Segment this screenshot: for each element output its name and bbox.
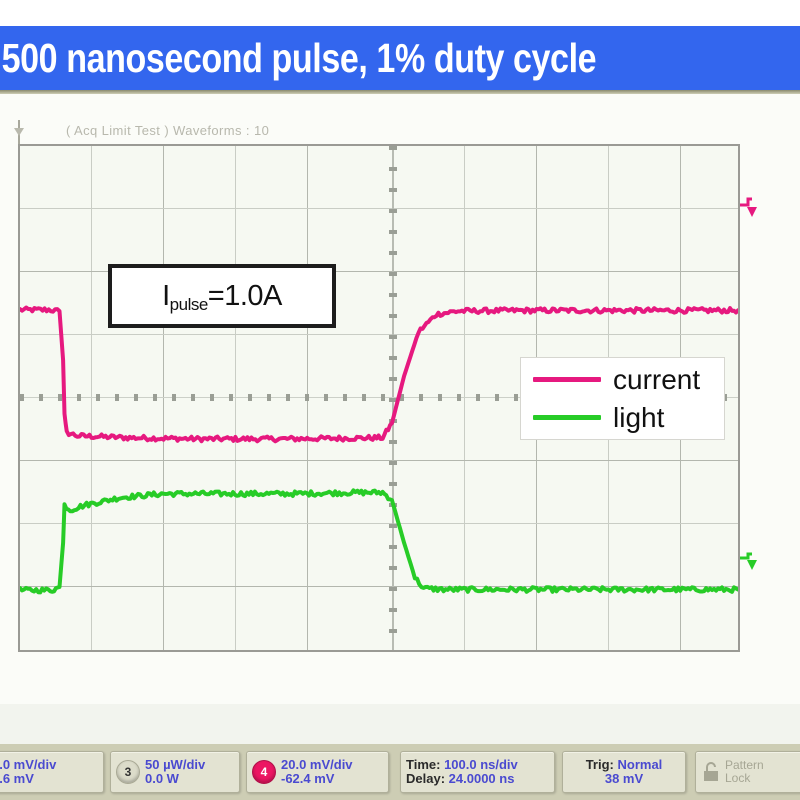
ch3-ground-marker-icon[interactable] <box>737 552 759 578</box>
timebase-key: Time: <box>406 757 440 772</box>
ch4-offset: -62.4 mV <box>281 772 353 786</box>
status-bar: 0.0 mV/div 1.6 mV 3 50 µW/div 0.0 W 4 20… <box>0 744 800 800</box>
ch4-ground-marker-icon[interactable] <box>737 196 759 222</box>
pulse-current-annotation: Ipulse=1.0A <box>108 264 336 328</box>
oscilloscope-screenshot: 500 nanosecond pulse, 1% duty cycle ( Ac… <box>0 0 800 800</box>
legend-item-light: light <box>533 402 724 434</box>
pattern-lock-line2: Lock <box>725 772 764 785</box>
ch3-offset: 0.0 W <box>145 772 205 786</box>
ch4-scale: 20.0 mV/div <box>281 758 353 772</box>
annotation-label: Ipulse=1.0A <box>162 280 282 313</box>
trace-legend: current light <box>520 357 725 440</box>
delay-line: Delay: 24.0000 ns <box>406 772 518 786</box>
ch2-scale: 0.0 mV/div <box>0 758 56 772</box>
channel-3-badge[interactable]: 3 <box>116 760 140 784</box>
trigger-mode-line: Trig: Normal <box>586 758 663 772</box>
trigger-level: 38 mV <box>605 772 643 786</box>
trigger-key: Trig: <box>586 757 614 772</box>
legend-swatch-light <box>533 415 601 420</box>
delay-key: Delay: <box>406 771 445 786</box>
timebase-value: 100.0 ns/div <box>444 757 518 772</box>
trace-light <box>20 490 738 592</box>
channel-2-readout[interactable]: 0.0 mV/div 1.6 mV <box>0 751 104 793</box>
legend-label-current: current <box>613 366 700 394</box>
scope-display: ( Acq Limit Test ) Waveforms : 10 <box>0 94 800 800</box>
trigger-position-marker[interactable] <box>12 120 26 144</box>
acquisition-status-text: ( Acq Limit Test ) Waveforms : 10 <box>66 123 269 138</box>
timebase-scale-line: Time: 100.0 ns/div <box>406 758 518 772</box>
channel-3-readout[interactable]: 3 50 µW/div 0.0 W <box>110 751 240 793</box>
pattern-lock-button[interactable]: Pattern Lock <box>695 751 800 793</box>
trigger-readout[interactable]: Trig: Normal 38 mV <box>562 751 686 793</box>
channel-4-badge[interactable]: 4 <box>252 760 276 784</box>
annotation-subscript: pulse <box>170 295 208 314</box>
annotation-symbol: I <box>162 280 170 312</box>
delay-value: 24.0000 ns <box>449 771 515 786</box>
timebase-readout[interactable]: Time: 100.0 ns/div Delay: 24.0000 ns <box>400 751 555 793</box>
legend-swatch-current <box>533 377 601 382</box>
trigger-mode: Normal <box>618 757 663 772</box>
annotation-value: =1.0A <box>208 280 282 312</box>
lock-icon <box>701 761 721 783</box>
ch3-scale: 50 µW/div <box>145 758 205 772</box>
ch2-offset: 1.6 mV <box>0 772 56 786</box>
page-title: 500 nanosecond pulse, 1% duty cycle <box>0 38 596 79</box>
legend-item-current: current <box>533 364 724 396</box>
channel-4-readout[interactable]: 4 20.0 mV/div -62.4 mV <box>246 751 389 793</box>
legend-label-light: light <box>613 404 664 432</box>
title-banner: 500 nanosecond pulse, 1% duty cycle <box>0 26 800 90</box>
